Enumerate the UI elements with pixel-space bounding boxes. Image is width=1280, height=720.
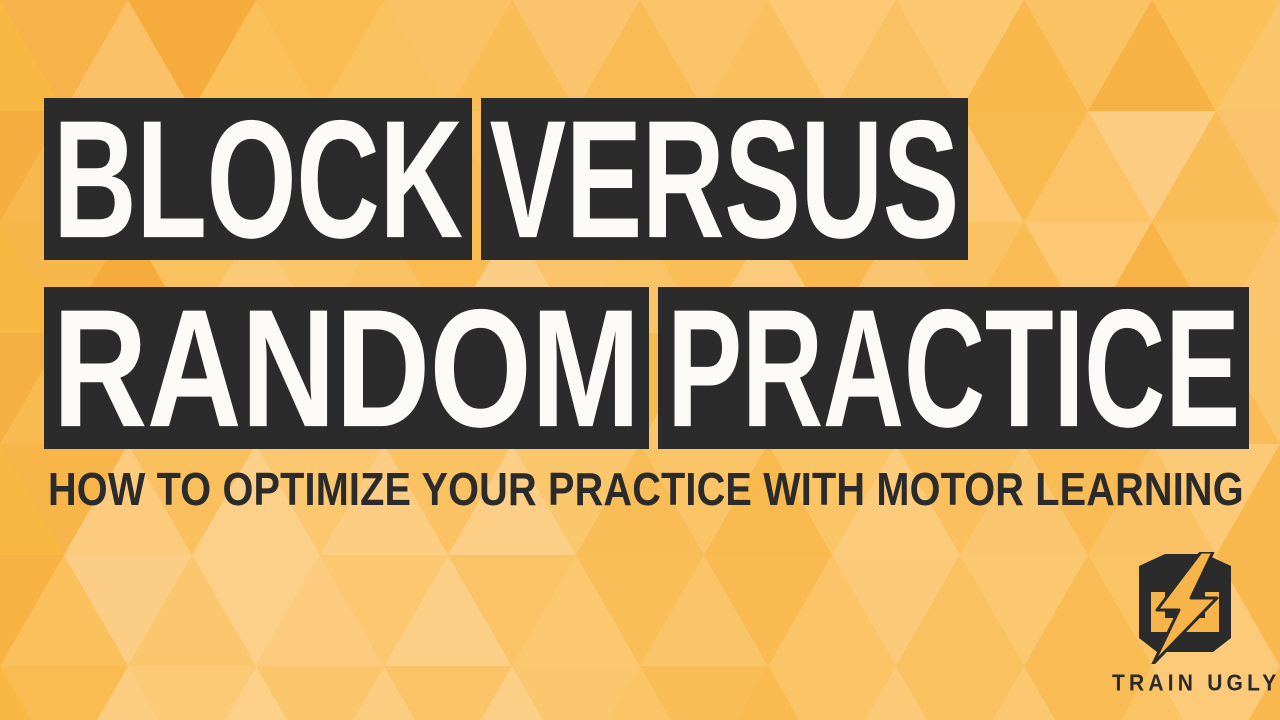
title-word-practice: PRACTICE	[667, 302, 1240, 433]
video-title-card: BLOCK VERSUS RANDOM PRACTICE HOW TO OPTI…	[0, 0, 1280, 720]
subtitle-text: HOW TO OPTIMIZE YOUR PRACTICE WITH MOTOR…	[48, 466, 1205, 513]
brand-name: TRAIN UGLY	[1112, 671, 1258, 697]
title-word-block: BLOCK	[53, 113, 463, 244]
title-word-block-box: BLOCK	[44, 98, 472, 260]
title-word-random: RANDOM	[53, 302, 640, 433]
title-line-2: RANDOM PRACTICE	[44, 287, 1249, 449]
title-line-1: BLOCK VERSUS	[44, 98, 968, 260]
train-ugly-shield-lightning-icon	[1117, 552, 1253, 664]
title-word-versus: VERSUS	[490, 113, 959, 244]
title-word-practice-box: PRACTICE	[658, 287, 1249, 449]
title-word-versus-box: VERSUS	[481, 98, 968, 260]
brand-logo: TRAIN UGLY	[1112, 552, 1258, 704]
title-group: BLOCK VERSUS RANDOM PRACTICE	[0, 0, 1280, 720]
title-word-random-box: RANDOM	[44, 287, 649, 449]
